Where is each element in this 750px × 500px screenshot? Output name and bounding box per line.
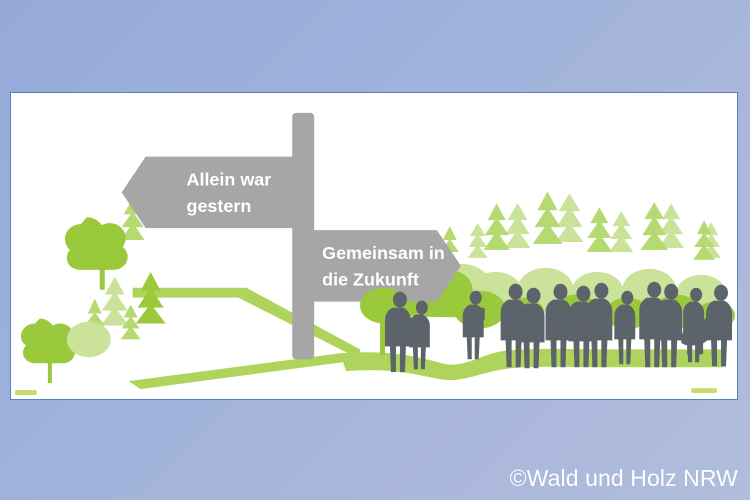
accent-dash-left: [15, 390, 37, 395]
bush: [67, 322, 111, 358]
copyright-credit: ©Wald und Holz NRW: [510, 465, 738, 492]
accent-dashes: [15, 388, 717, 395]
illustration-stage: Allein war gestern Gemeinsam in die Zuku…: [0, 0, 750, 500]
sign-right-line-1: Gemeinsam in: [322, 243, 445, 263]
accent-dash-right: [691, 388, 717, 393]
sign-left-line-1: Allein war: [187, 169, 272, 189]
sign-left-line-2: gestern: [187, 196, 252, 216]
signpost-post: [292, 113, 314, 359]
deciduous-tree: [65, 217, 128, 270]
tree-group-lower-left: [21, 272, 166, 385]
sign-left-arrow: [122, 157, 296, 229]
scene-svg: Allein war gestern Gemeinsam in die Zuku…: [11, 93, 737, 399]
illustration-panel: Allein war gestern Gemeinsam in die Zuku…: [10, 92, 738, 400]
fir-tree: [121, 305, 141, 380]
sign-right-line-2: die Zukunft: [322, 270, 419, 290]
tree-group-upper-left: [65, 198, 145, 289]
deciduous-tree: [21, 319, 75, 364]
